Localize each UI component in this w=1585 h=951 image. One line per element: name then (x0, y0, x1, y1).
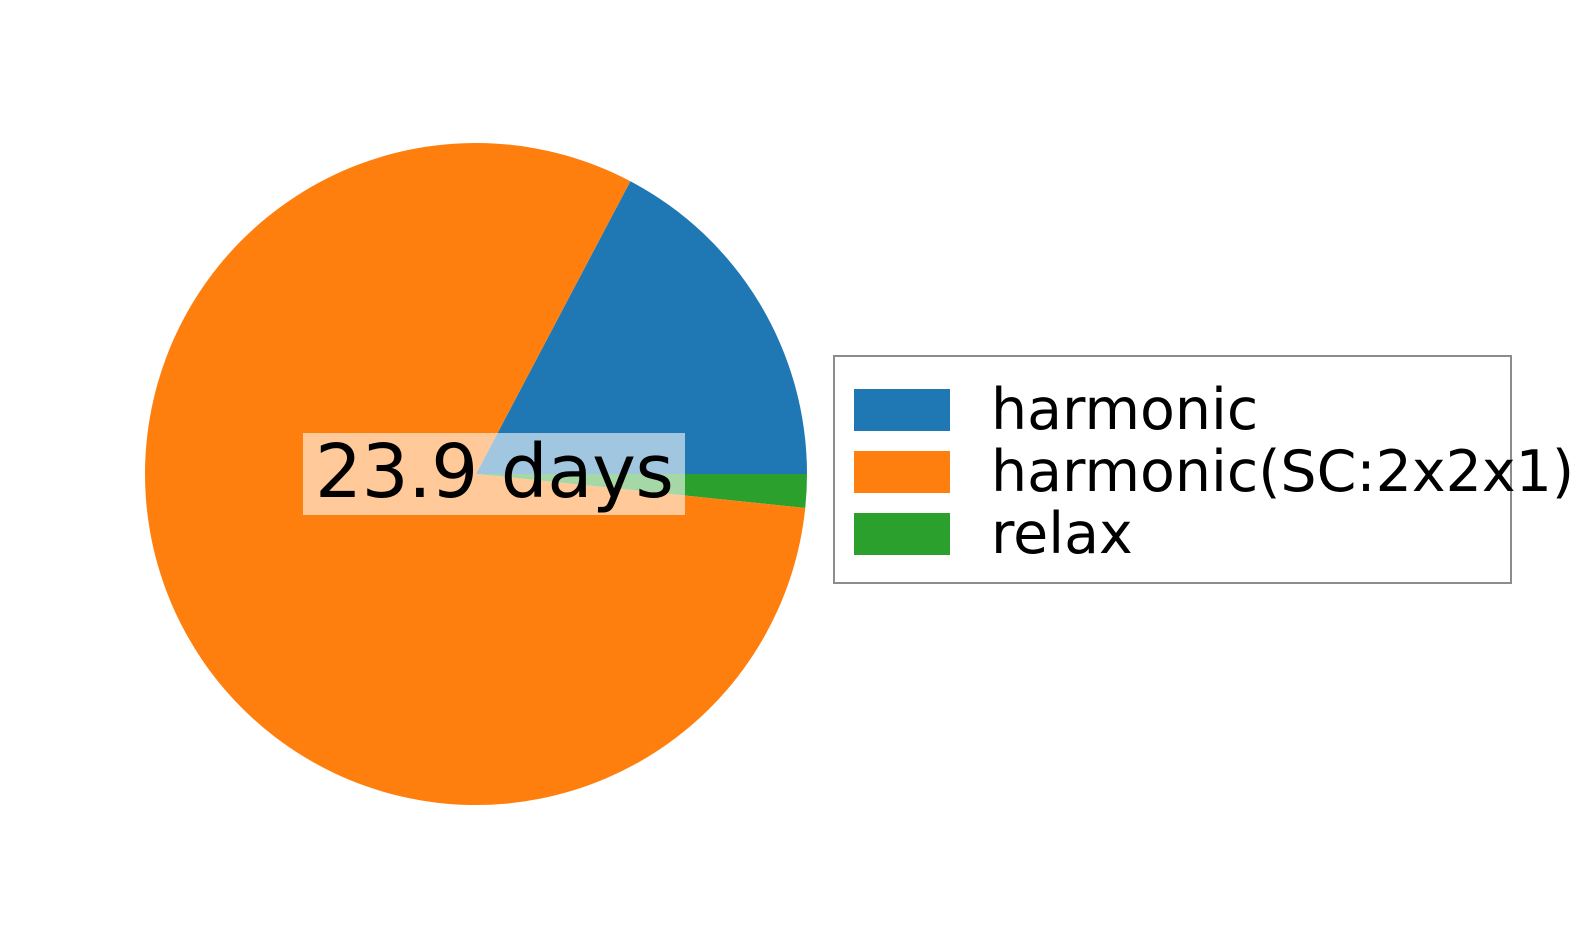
legend-label-harmonic-sc: harmonic(SC:2x2x1) (991, 444, 1574, 501)
pie-center-value-label: 23.9 days (303, 433, 685, 515)
legend-item-harmonic[interactable]: harmonic (854, 379, 1510, 441)
legend-item-harmonic-sc[interactable]: harmonic(SC:2x2x1) (854, 441, 1510, 503)
legend-swatch-relax (854, 513, 950, 555)
figure-canvas: 23.9 days harmonic harmonic(SC:2x2x1) re… (0, 0, 1585, 951)
legend: harmonic harmonic(SC:2x2x1) relax (833, 355, 1512, 584)
legend-swatch-harmonic-sc (854, 451, 950, 493)
legend-swatch-harmonic (854, 389, 950, 431)
legend-item-relax[interactable]: relax (854, 503, 1510, 565)
legend-label-harmonic: harmonic (991, 382, 1258, 439)
legend-label-relax: relax (991, 506, 1133, 563)
